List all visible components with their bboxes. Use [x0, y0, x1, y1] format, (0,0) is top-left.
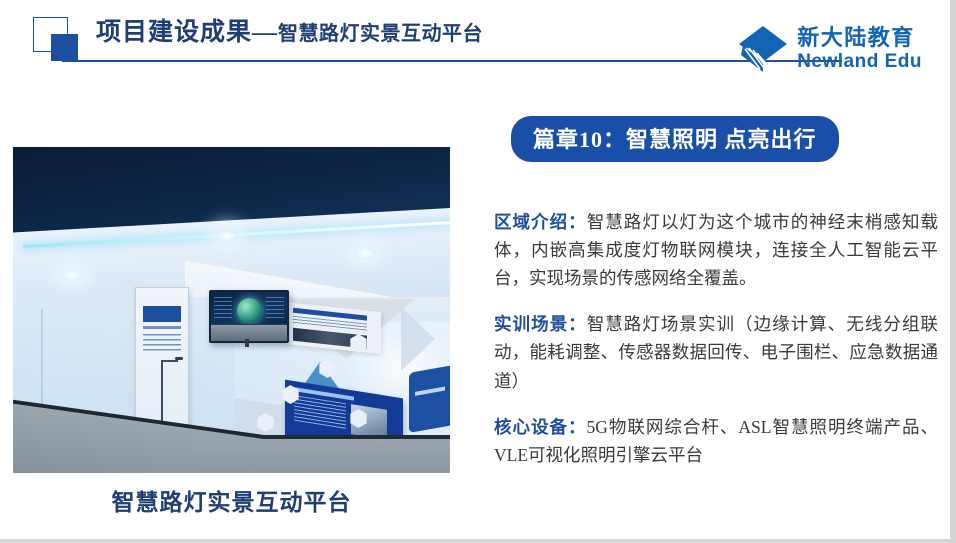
brand-logo-text: 新大陆教育 Newland Edu [797, 27, 922, 71]
photo-tv-map-strip [211, 324, 287, 341]
slide: 项目建设成果—智慧路灯实景互动平台 新大陆教育 Newland Edu [0, 0, 956, 543]
header-square-filled-icon [51, 34, 78, 61]
photo-sidepanel-text [415, 387, 445, 396]
brand-name-en: Newland Edu [797, 52, 922, 71]
photo-poster-header [143, 306, 181, 322]
exhibition-photo [13, 147, 450, 473]
photo-poster-lines [143, 334, 181, 352]
photo-downlight [354, 247, 376, 259]
photo-downlight [61, 269, 83, 281]
photo-tv-panel-left [214, 297, 232, 321]
header-divider [62, 60, 842, 62]
photo-tv-panel-right [266, 297, 284, 321]
exhibition-photo-image [13, 147, 450, 473]
photo-tv-screen [211, 292, 287, 341]
paragraph-lead: 核心设备： [494, 417, 587, 437]
paragraph-lead: 区域介绍： [494, 212, 587, 232]
photo-downlight [216, 230, 238, 242]
photo-caption: 智慧路灯实景互动平台 [13, 483, 450, 517]
paragraph-area-intro: 区域介绍：智慧路灯以灯为这个城市的神经末梢感知载体，内嵌高集成度灯物联网模块，连… [494, 208, 938, 293]
paragraph-core-equipment: 核心设备：5G物联网综合杆、ASL智慧照明终端产品、VLE可视化照明引擎云平台 [494, 413, 938, 470]
page-title-main: 项目建设成果— [96, 19, 278, 46]
photo-wall-sidepanel [409, 365, 450, 433]
photo-tv-globe-icon [237, 298, 262, 323]
photo-tv-monitor [209, 290, 289, 343]
photo-poster-arm [161, 360, 178, 362]
page-title-sub: 智慧路灯实景互动平台 [278, 23, 483, 45]
photo-tv-stand [245, 339, 249, 347]
photo-floor [193, 439, 450, 473]
photo-panel-text [294, 395, 346, 429]
newland-diamond-logo-icon [737, 24, 789, 74]
content-column: 区域介绍：智慧路灯以灯为这个城市的神经末梢感知载体，内嵌高集成度灯物联网模块，连… [494, 190, 938, 485]
page-title: 项目建设成果—智慧路灯实景互动平台 [96, 20, 483, 45]
paragraph-training-scene: 实训场景：智慧路灯场景实训（边缘计算、无线分组联动，能耗调整、传感器数据回传、电… [494, 310, 938, 395]
photo-poster-band [143, 326, 181, 329]
chapter-banner: 篇章10：智慧照明 点亮出行 [511, 116, 839, 162]
brand-name-cn: 新大陆教育 [797, 27, 922, 49]
paragraph-lead: 实训场景： [494, 314, 587, 334]
photo-poster-lamp-icon [175, 357, 183, 360]
photo-wall-seam [41, 309, 43, 409]
brand-logo: 新大陆教育 Newland Edu [737, 24, 922, 74]
